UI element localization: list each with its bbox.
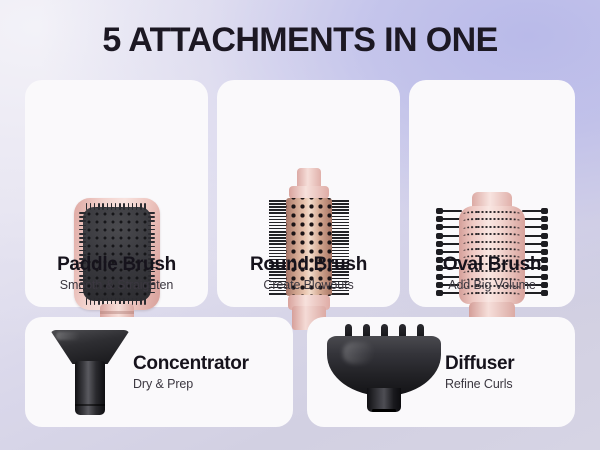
attachment-card-concentrator[interactable]: Concentrator Dry & Prep xyxy=(25,317,293,427)
diffuser-labels: Diffuser Refine Curls xyxy=(445,352,575,392)
attachment-card-round-brush[interactable]: Round Brush Create Blowouts xyxy=(217,80,400,307)
attachment-tagline: Dry & Prep xyxy=(133,376,293,392)
concentrator-labels: Concentrator Dry & Prep xyxy=(133,352,293,392)
attachment-card-diffuser[interactable]: Diffuser Refine Curls xyxy=(307,317,575,427)
diffuser-icon xyxy=(323,324,445,420)
attachment-name: Oval Brush xyxy=(409,253,575,276)
attachment-card-oval-brush[interactable]: Oval Brush Add Big Volume xyxy=(409,80,575,307)
oval-brush-labels: Oval Brush Add Big Volume xyxy=(409,253,575,293)
infographic-page: 5 ATTACHMENTS IN ONE Paddle Brush Smooth… xyxy=(0,0,600,450)
attachment-name: Concentrator xyxy=(133,352,293,375)
attachment-tagline: Create Blowouts xyxy=(217,277,400,293)
round-brush-labels: Round Brush Create Blowouts xyxy=(217,253,400,293)
page-title: 5 ATTACHMENTS IN ONE xyxy=(0,20,600,60)
attachment-name: Diffuser xyxy=(445,352,575,375)
attachment-name: Round Brush xyxy=(217,253,400,276)
round-brush-icon xyxy=(263,168,355,330)
paddle-brush-labels: Paddle Brush Smooth & Straighten xyxy=(25,253,208,293)
attachment-card-paddle-brush[interactable]: Paddle Brush Smooth & Straighten xyxy=(25,80,208,307)
attachment-tagline: Smooth & Straighten xyxy=(25,277,208,293)
concentrator-nozzle-icon xyxy=(47,324,133,420)
attachment-tagline: Add Big Volume xyxy=(409,277,575,293)
attachment-tagline: Refine Curls xyxy=(445,376,575,392)
attachment-name: Paddle Brush xyxy=(25,253,208,276)
